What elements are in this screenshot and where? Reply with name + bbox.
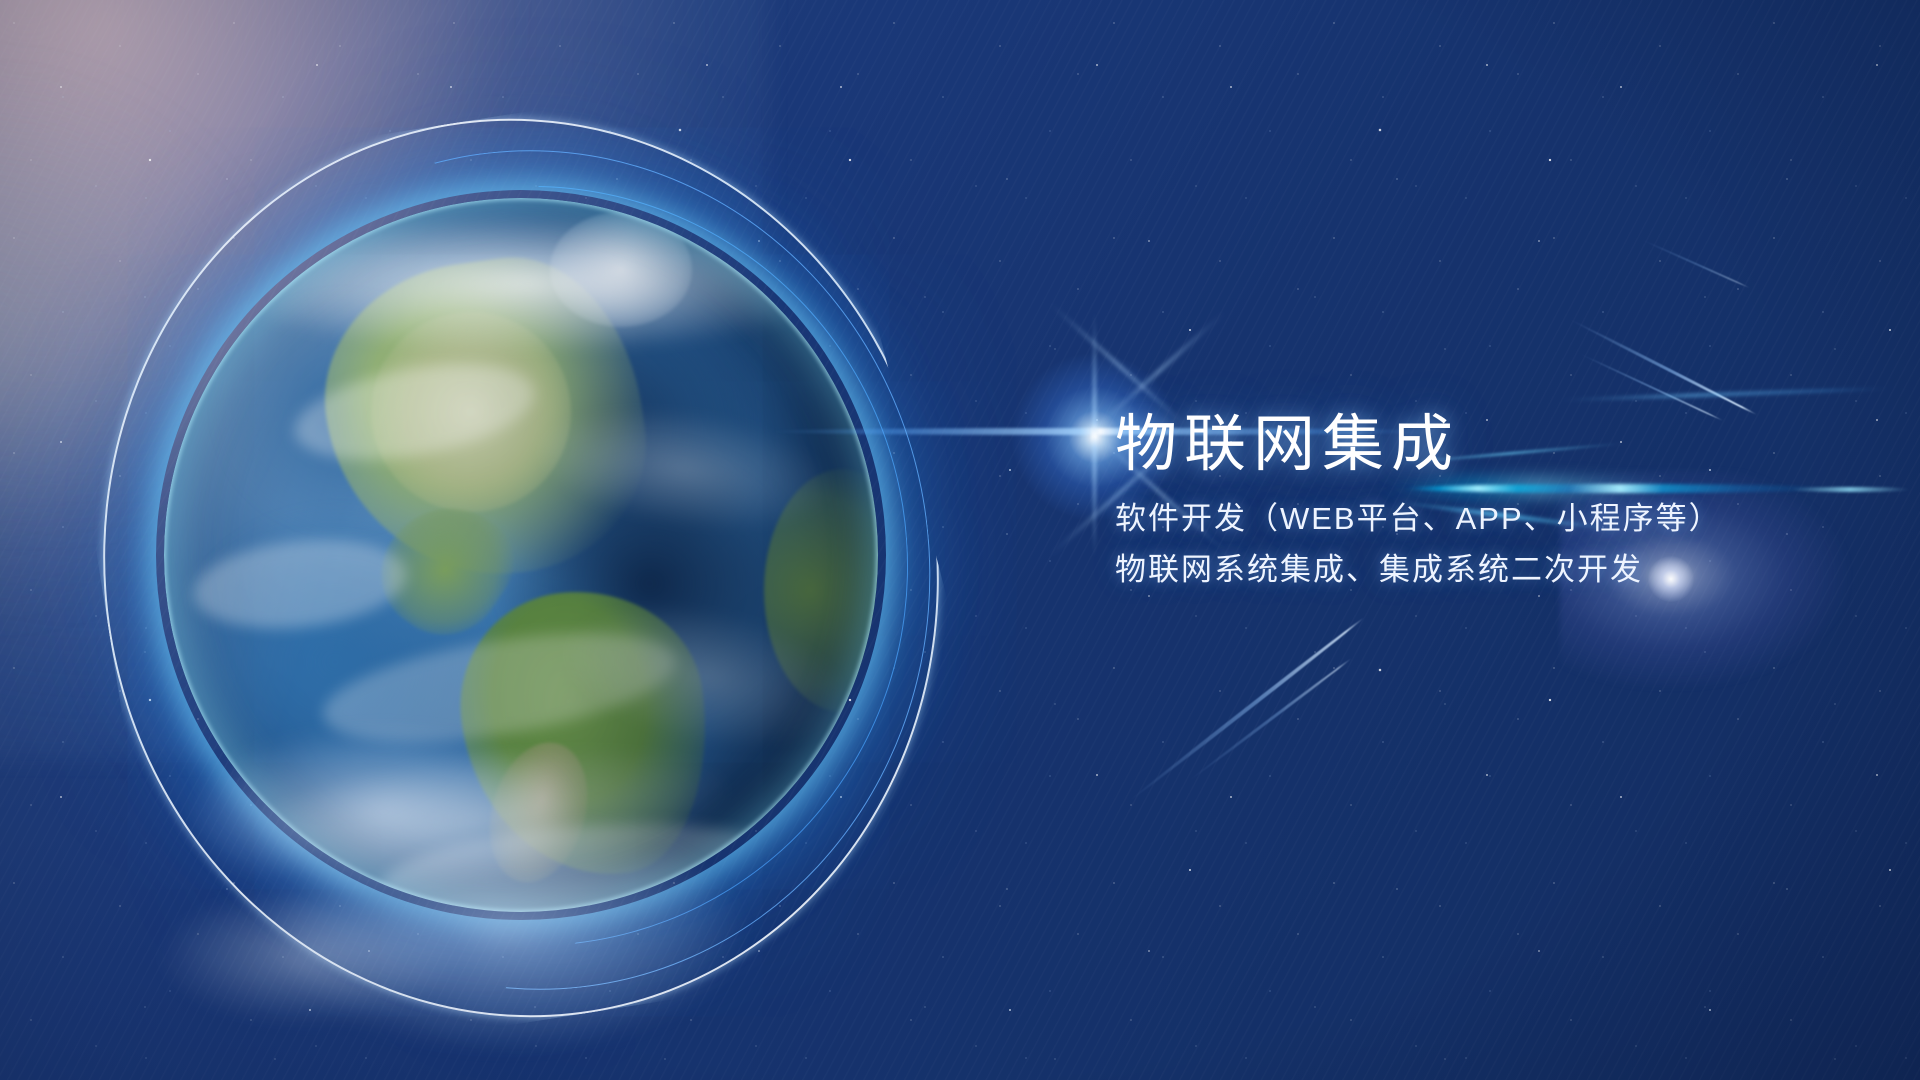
hero-subtitle-line-1: 软件开发（WEB平台、APP、小程序等） <box>1115 497 1855 540</box>
hero-text-block: 物联网集成 软件开发（WEB平台、APP、小程序等） 物联网系统集成、集成系统二… <box>1115 412 1855 592</box>
hero-banner: 物联网集成 软件开发（WEB平台、APP、小程序等） 物联网系统集成、集成系统二… <box>0 0 1920 1080</box>
page-title: 物联网集成 <box>1115 412 1855 479</box>
hero-subtitle-line-2: 物联网系统集成、集成系统二次开发 <box>1115 548 1855 591</box>
